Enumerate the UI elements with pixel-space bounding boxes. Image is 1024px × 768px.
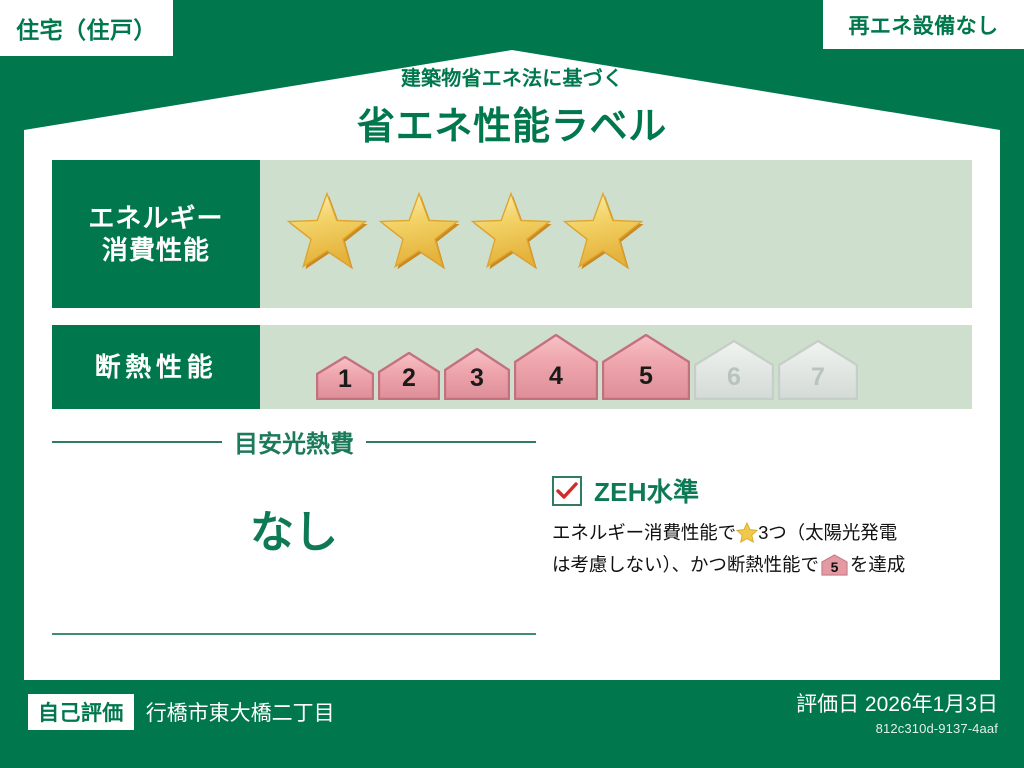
grade-number: 3 (444, 364, 510, 393)
zeh-standard-block: ZEH水準 エネルギー消費性能で3つ（太陽光発電は考慮しない）、かつ断熱性能で5… (552, 472, 976, 584)
grade-number: 2 (378, 364, 440, 393)
footer: 自己評価 行橋市東大橋二丁目 評価日 2026年1月3日 812c310d-91… (0, 680, 1024, 768)
energy-performance-label: エネルギー 消費性能 (52, 160, 260, 308)
zeh-desc-part1: エネルギー消費性能で (552, 522, 736, 543)
insulation-performance-label: 断熱性能 (52, 325, 260, 409)
svg-text:5: 5 (831, 559, 839, 575)
grade-number: 6 (694, 363, 774, 392)
utility-cost-heading: 目安光熱費 (52, 424, 536, 459)
utility-cost-value: なし (52, 496, 536, 560)
energy-performance-row: エネルギー 消費性能 (52, 160, 972, 308)
insulation-grade-1: 1 (316, 356, 374, 400)
grade-number: 7 (778, 363, 858, 392)
badge-building-type: 住宅（住戸） (0, 0, 173, 56)
property-address: 行橋市東大橋二丁目 (146, 697, 335, 727)
evaluation-date: 評価日 2026年1月3日 (796, 688, 998, 718)
footer-right: 評価日 2026年1月3日 812c310d-9137-4aaf (796, 688, 998, 736)
page-title: 建築物省エネ法に基づく 省エネ性能ラベル (0, 62, 1024, 150)
evaluation-type-badge: 自己評価 (28, 694, 134, 730)
star-icon (560, 191, 646, 277)
label-canvas: 住宅（住戸） 再エネ設備なし 建築物省エネ法に基づく 省エネ性能ラベル エネルギ… (0, 0, 1024, 768)
utility-cost-divider (52, 633, 536, 635)
badge-renewable-equipment: 再エネ設備なし (823, 0, 1024, 49)
star-icon (376, 191, 462, 277)
zeh-description: エネルギー消費性能で3つ（太陽光発電は考慮しない）、かつ断熱性能で5を達成 (552, 519, 976, 584)
insulation-grade-6: 6 (694, 340, 774, 400)
insulation-grade-scale: 1234567 (316, 334, 858, 400)
zeh-header: ZEH水準 (552, 472, 976, 509)
energy-label-line1: エネルギー (88, 202, 223, 235)
zeh-checkbox[interactable] (552, 476, 582, 506)
insulation-grade-2: 2 (378, 352, 440, 400)
energy-label-line2: 消費性能 (102, 234, 210, 267)
title-main: 省エネ性能ラベル (0, 95, 1024, 150)
insulation-grade-3: 3 (444, 348, 510, 400)
star-icon (284, 191, 370, 277)
inline-grade-badge: 5 (821, 554, 848, 584)
check-icon (556, 482, 578, 500)
insulation-grade-5: 5 (602, 334, 690, 400)
badge-building-type-label: 住宅（住戸） (16, 11, 157, 45)
heading-rule-left (52, 441, 222, 443)
badge-renewable-equipment-label: 再エネ設備なし (849, 10, 999, 40)
star-rating (284, 191, 646, 277)
zeh-title: ZEH水準 (594, 472, 699, 509)
title-subtitle: 建築物省エネ法に基づく (0, 62, 1024, 91)
grade-number: 4 (514, 362, 598, 391)
zeh-desc-part4: を達成 (850, 554, 905, 575)
grade-number: 1 (316, 365, 374, 394)
insulation-grade-7: 7 (778, 340, 858, 400)
footer-left: 自己評価 行橋市東大橋二丁目 (28, 694, 335, 730)
zeh-desc-part2: 3つ（太陽光発電 (758, 522, 897, 543)
heading-rule-right (366, 441, 536, 443)
grade-number: 5 (602, 362, 690, 391)
insulation-label-text: 断熱性能 (95, 351, 218, 384)
insulation-performance-row: 断熱性能 1234567 (52, 325, 972, 409)
insulation-grade-4: 4 (514, 334, 598, 400)
utility-cost-heading-text: 目安光熱費 (234, 424, 354, 459)
insulation-performance-body: 1234567 (260, 325, 972, 409)
zeh-desc-part3: は考慮しない）、かつ断熱性能で (552, 554, 819, 575)
energy-performance-body (260, 160, 972, 308)
inline-star-icon (736, 522, 758, 551)
document-id: 812c310d-9137-4aaf (796, 721, 998, 736)
star-icon (468, 191, 554, 277)
